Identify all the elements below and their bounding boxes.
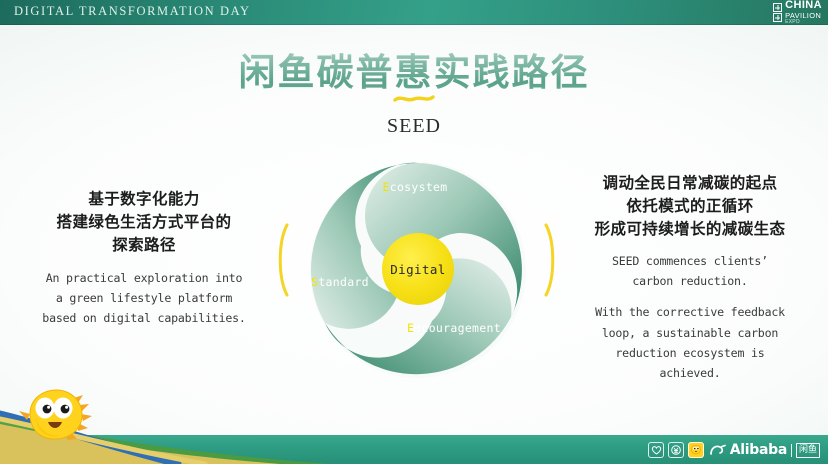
- digital-core-label: Digital: [390, 262, 445, 277]
- petal-label-ecosystem: Ecosystem: [382, 180, 447, 194]
- petal-rest-encouragement: ncouragement: [414, 321, 501, 335]
- page-subtitle: SEED: [0, 115, 828, 138]
- event-title: DIGITAL TRANSFORMATION DAY: [14, 4, 251, 19]
- right-en-p2-line-2: loop, a sustainable carbon: [556, 323, 824, 343]
- petal-rest-standard: tandard: [318, 275, 369, 289]
- heart-icon[interactable]: [648, 442, 664, 458]
- cn-char-box-top: [773, 3, 782, 12]
- mascot-glint-left: [47, 406, 50, 409]
- alibaba-wordmark: Alibaba: [730, 442, 787, 458]
- top-header-bar: DIGITAL TRANSFORMATION DAY CHINA PAVILIO…: [0, 0, 828, 25]
- petal-label-standard: Standard: [311, 275, 369, 289]
- footer-icon-group[interactable]: [648, 441, 704, 458]
- right-text-block: 调动全民日常减碳的起点 依托模式的正循环 形成可持续增长的减碳生态 SEED c…: [556, 172, 824, 384]
- cn-char-box-bottom: [773, 13, 782, 22]
- left-cn-line-1: 基于数字化能力: [8, 188, 280, 211]
- left-cn-line-2: 搭建绿色生活方式平台的: [8, 211, 280, 234]
- left-cn-line-3: 探索路径: [8, 234, 280, 257]
- coin-icon[interactable]: [668, 442, 684, 458]
- right-en-paragraph-1: SEED commences clients’ carbon reduction…: [556, 251, 824, 292]
- petal-rest-ecosystem: cosystem: [390, 180, 448, 194]
- right-cn-heading: 调动全民日常减碳的起点 依托模式的正循环 形成可持续增长的减碳生态: [556, 172, 824, 241]
- china-pavilion-logo: CHINA PAVILION EXPO: [773, 2, 822, 23]
- logo-line-expo: EXPO: [785, 20, 822, 25]
- logo-line-china: CHINA: [785, 0, 822, 11]
- right-cn-line-2: 依托模式的正循环: [556, 195, 824, 218]
- left-text-block: 基于数字化能力 搭建绿色生活方式平台的 探索路径 An practical ex…: [8, 188, 280, 329]
- left-en-line-2: a green lifestyle platform: [8, 288, 280, 308]
- seed-pinwheel-diagram: Digital Ecosystem Standard Encouragement: [288, 145, 548, 395]
- china-pavilion-glyph-icon: [773, 3, 782, 22]
- petal-cap-s: S: [311, 275, 318, 289]
- left-en-line-1: An practical exploration into: [8, 268, 280, 288]
- mascot-pupil-left: [43, 405, 52, 414]
- right-en-p1-line-1: SEED commences clients’: [556, 251, 824, 271]
- right-en-paragraph-2: With the corrective feedback loop, a sus…: [556, 302, 824, 383]
- right-en-p2-line-1: With the corrective feedback: [556, 302, 824, 322]
- petal-cap-e2: E: [407, 321, 414, 335]
- petal-cap-e1: E: [382, 180, 389, 194]
- xianyu-wordmark: 闲鱼: [796, 443, 820, 458]
- left-en-line-3: based on digital capabilities.: [8, 308, 280, 328]
- slide-canvas: DIGITAL TRANSFORMATION DAY CHINA PAVILIO…: [0, 0, 828, 464]
- right-cn-line-3: 形成可持续增长的减碳生态: [556, 218, 824, 241]
- left-cn-heading: 基于数字化能力 搭建绿色生活方式平台的 探索路径: [8, 188, 280, 257]
- right-en-p1-line-2: carbon reduction.: [556, 271, 824, 291]
- china-pavilion-wordmark: CHINA PAVILION EXPO: [785, 0, 822, 25]
- petal-label-encouragement: Encouragement: [407, 321, 501, 335]
- left-en-paragraph: An practical exploration into a green li…: [8, 268, 280, 329]
- page-title: 闲鱼碳普惠实践路径: [0, 42, 828, 96]
- right-cn-line-1: 调动全民日常减碳的起点: [556, 172, 824, 195]
- logo-divider: [791, 444, 792, 457]
- alibaba-smile-icon: [709, 444, 726, 457]
- right-en-p2-line-3: reduction ecosystem is: [556, 343, 824, 363]
- mascot-glint-right: [65, 406, 68, 409]
- mascot-pupil-right: [61, 405, 70, 414]
- title-swash-decoration: [393, 93, 435, 105]
- alibaba-brand-logo: Alibaba 闲鱼: [709, 441, 820, 459]
- fish-mascot-icon[interactable]: [688, 442, 704, 458]
- xianyu-fish-mascot: [18, 384, 94, 446]
- right-en-p2-line-4: achieved.: [556, 363, 824, 383]
